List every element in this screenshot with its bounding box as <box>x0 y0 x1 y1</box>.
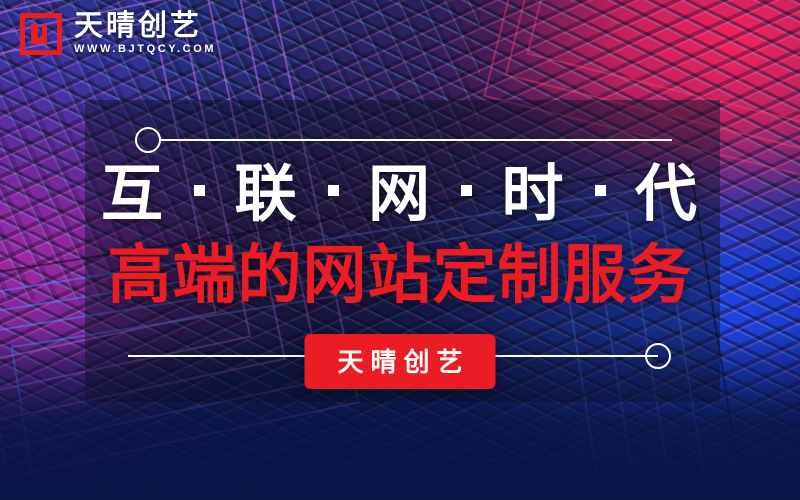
headline-char-5: 代 <box>635 160 699 229</box>
promo-banner: 互 联 网 时 代 高端的网站定制服务 天晴创艺 天晴创艺 WWW.BJTQCY… <box>0 0 800 500</box>
subheadline: 高端的网站定制服务 <box>0 243 800 307</box>
headline-char-2: 联 <box>235 160 299 229</box>
brand-badge: 天晴创艺 <box>304 334 495 389</box>
headline-char-4: 时 <box>501 160 565 229</box>
bottom-right-circle-marker <box>645 343 671 369</box>
logo-lockup[interactable]: 天晴创艺 WWW.BJTQCY.COM <box>20 12 216 55</box>
headline-separator-square-dot <box>328 185 339 196</box>
headline-char-1: 互 <box>101 160 165 229</box>
headline-separator-square-dot <box>194 185 205 196</box>
logo-website-url: WWW.BJTQCY.COM <box>74 44 216 55</box>
logo-text-block: 天晴创艺 WWW.BJTQCY.COM <box>74 12 216 55</box>
headline-separator-square-dot <box>595 185 606 196</box>
top-left-circle-marker <box>135 127 161 153</box>
logo-brand-name: 天晴创艺 <box>74 12 216 41</box>
top-divider-line <box>160 139 672 141</box>
tianqing-square-logo-icon <box>20 13 62 55</box>
headline: 互 联 网 时 代 <box>0 164 800 226</box>
headline-separator-square-dot <box>461 185 472 196</box>
headline-char-3: 网 <box>368 160 432 229</box>
